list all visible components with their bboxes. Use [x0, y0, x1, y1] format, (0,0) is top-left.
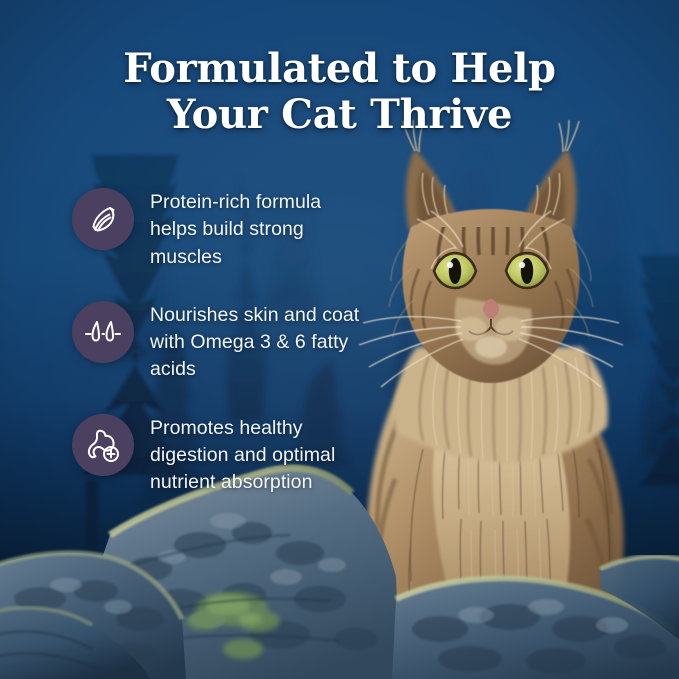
- benefit-text: Promotes healthy digestion and optimal n…: [150, 414, 372, 497]
- muscle-icon: [85, 201, 121, 237]
- benefit-text: Protein-rich formula helps build strong …: [150, 188, 372, 271]
- stomach-plus-icon: [84, 427, 122, 463]
- benefit-item-protein: Protein-rich formula helps build strong …: [72, 188, 372, 271]
- benefit-icon-badge: [72, 188, 134, 250]
- product-benefit-graphic: Formulated to Help Your Cat Thrive Prote…: [0, 0, 679, 679]
- benefit-icon-badge: [72, 301, 134, 363]
- benefit-list: Protein-rich formula helps build strong …: [72, 188, 372, 497]
- hair-follicle-icon: [84, 316, 122, 348]
- benefit-icon-badge: [72, 414, 134, 476]
- benefit-item-skin-coat: Nourishes skin and coat with Omega 3 & 6…: [72, 301, 372, 384]
- benefit-item-digestion: Promotes healthy digestion and optimal n…: [72, 414, 372, 497]
- benefit-text: Nourishes skin and coat with Omega 3 & 6…: [150, 301, 372, 384]
